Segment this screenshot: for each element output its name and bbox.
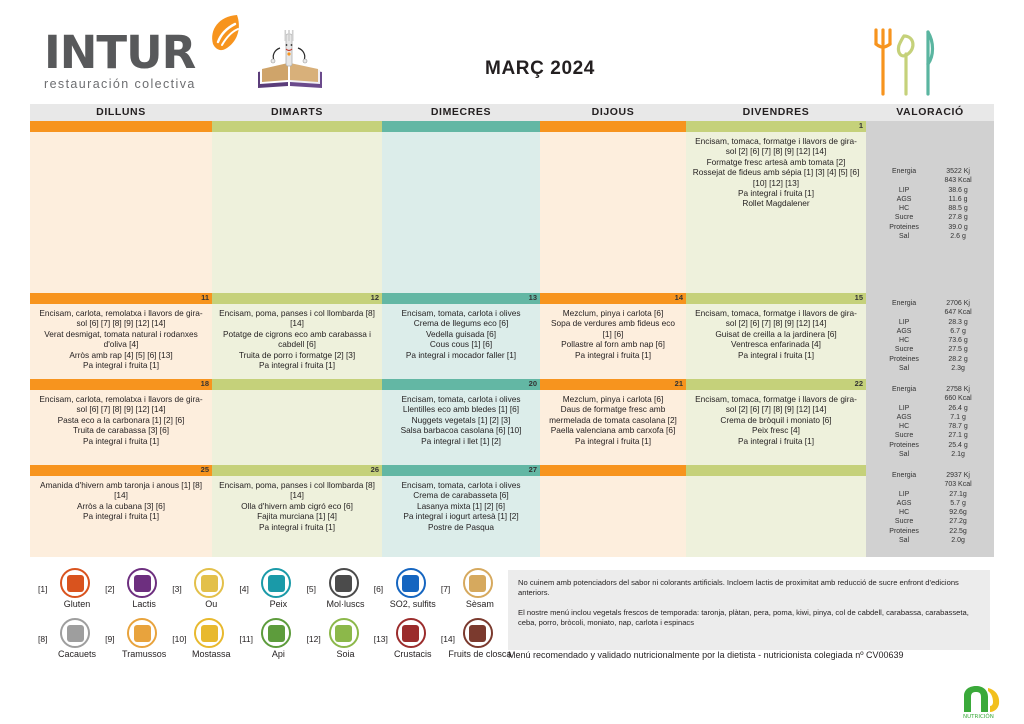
menu-item: Pa integral i fruita [1]	[546, 436, 680, 446]
menu-item: Encisam, tomata, carlota i olives	[388, 308, 534, 318]
nutrition-row: Proteines22.5g	[876, 527, 984, 536]
nutrition-row: Sucre27.2g	[876, 517, 984, 526]
day-number: 26	[371, 464, 379, 475]
menu-item: Paella valenciana amb carxofa [6]	[546, 425, 680, 435]
nutrition-label: Proteines	[876, 527, 932, 536]
menu-item: Truita de carabassa [3] [6]	[36, 425, 206, 435]
nutrition-value: 660 Kcal	[932, 394, 984, 403]
celery-icon	[261, 618, 291, 648]
allergen-glyph	[268, 575, 285, 592]
nutrition-value: 27.8 g	[932, 213, 984, 222]
nutrition-value: 2937 Kj	[932, 471, 984, 480]
nutrition-row: Energia703 Kcal	[876, 480, 984, 489]
nutrition-row: LIP28.3 g	[876, 318, 984, 327]
menu-day-cell[interactable]: 11Encisam, carlota, remolatxa i llavors …	[30, 293, 212, 379]
nutrition-label: HC	[876, 422, 932, 431]
day-menu-items: Encisam, carlota, remolatxa i llavors de…	[30, 390, 212, 465]
menu-item: Formatge fresc artesà amb tomata [2]	[692, 157, 860, 167]
nutrition-row: Energia647 Kcal	[876, 308, 984, 317]
nutrition-label: Proteines	[876, 355, 932, 364]
menu-item: Cous cous [1] [6]	[388, 339, 534, 349]
allergen-glyph	[201, 575, 218, 592]
nutrition-label: Proteines	[876, 223, 932, 232]
nutrition-label: Sal	[876, 536, 932, 545]
nutrition-valuation-cell: Energia2937 KjEnergia703 KcalLIP27.1gAGS…	[866, 465, 994, 557]
nut-icon	[463, 618, 493, 648]
menu-item: Amanida d'hivern amb taronja i anous [1]…	[36, 480, 206, 501]
nutrition-row: AGS6.7 g	[876, 327, 984, 336]
mollusc-icon	[329, 568, 359, 598]
column-header-dilluns: DILLUNS	[30, 104, 212, 121]
nutrition-row: LIP26.4 g	[876, 404, 984, 413]
menu-day-cell[interactable]: 20Encisam, tomata, carlota i olivesLlent…	[382, 379, 540, 465]
allergen-glyph	[469, 625, 486, 642]
nutrition-value: 27.1 g	[932, 431, 984, 440]
menu-day-cell[interactable]	[382, 121, 540, 293]
nutrition-value: 28.2 g	[932, 355, 984, 364]
nutrition-row: AGS11.6 g	[876, 195, 984, 204]
nutrition-row: AGS7.1 g	[876, 413, 984, 422]
nutrition-label: Energia	[876, 471, 932, 480]
nutrition-value: 6.7 g	[932, 327, 984, 336]
column-header-dimecres: DIMECRES	[382, 104, 540, 121]
allergen-number: [13]	[374, 634, 388, 644]
page-footer: [1]Gluten[2]Lactis[3]Ou[4]Peix[5]Mol·lus…	[0, 560, 1024, 724]
nutrition-valuation-cell: Energia2706 KjEnergia647 KcalLIP28.3 gAG…	[866, 293, 994, 379]
nutrition-row: HC73.6 g	[876, 336, 984, 345]
day-number-bar: 18	[30, 379, 212, 390]
menu-item: Potatge de cigrons eco amb carabassa i c…	[218, 329, 376, 350]
nutrition-row: Sal2.1g	[876, 450, 984, 459]
day-number-bar: 13	[382, 293, 540, 304]
day-menu-items	[382, 132, 540, 293]
nutrition-label: Energia	[876, 385, 932, 394]
day-number-bar	[30, 121, 212, 132]
nutrition-value: 92.6g	[932, 508, 984, 517]
menu-item: Encisam, tomaca, formatge i llavors de g…	[692, 308, 860, 329]
day-number-bar	[540, 121, 686, 132]
fish-icon	[261, 568, 291, 598]
nutrition-label: LIP	[876, 186, 932, 195]
allergen-item: [10]Mostassa	[172, 618, 239, 668]
nutrition-valuation-cell: Energia2758 KjEnergia660 KcalLIP26.4 gAG…	[866, 379, 994, 465]
column-header-dimarts: DIMARTS	[212, 104, 382, 121]
menu-item: Verat desmigat, tomata natural i rodanxe…	[36, 329, 206, 350]
nutrition-row: Sucre27.8 g	[876, 213, 984, 222]
nutrition-row: Energia2758 Kj	[876, 385, 984, 394]
day-menu-items: Encisam, tomaca, formatge i llavors de g…	[686, 132, 866, 293]
menu-day-cell[interactable]: 26Encisam, poma, panses i col llombarda …	[212, 465, 382, 557]
calendar-week-row: 11Encisam, carlota, remolatxa i llavors …	[30, 293, 994, 379]
menu-item: Crema de bròquil i moniato [6]	[692, 415, 860, 425]
menu-item: Pa integral i fruita [1]	[692, 350, 860, 360]
day-menu-items	[540, 132, 686, 293]
nutrition-value: 2.6 g	[932, 232, 984, 241]
menu-day-cell[interactable]	[212, 379, 382, 465]
column-header-dijous: DIJOUS	[540, 104, 686, 121]
nutrition-row: Energia660 Kcal	[876, 394, 984, 403]
nutrition-label: Sal	[876, 364, 932, 373]
allergen-number: [3]	[172, 584, 181, 594]
nutrition-valuation-cell: Energia3522 KjEnergia843 KcalLIP38.6 gAG…	[866, 121, 994, 293]
allergen-item: [4]Peix	[239, 568, 306, 618]
day-menu-items: Encisam, tomaca, formatge i llavors de g…	[686, 304, 866, 379]
menu-item: Pa integral i fruita [1]	[218, 522, 376, 532]
day-number-bar: 15	[686, 293, 866, 304]
nutrition-label: LIP	[876, 318, 932, 327]
menu-item: Encisam, carlota, remolatxa i llavors de…	[36, 394, 206, 415]
nutrition-row: Sal2.3g	[876, 364, 984, 373]
nutrition-label: AGS	[876, 327, 932, 336]
day-number-bar: 25	[30, 465, 212, 476]
allergen-item: [2]Lactis	[105, 568, 172, 618]
nutrition-value: 3522 Kj	[932, 167, 984, 176]
menu-item: Mezclum, pinya i carlota [6]	[546, 394, 680, 404]
day-menu-items	[686, 476, 866, 557]
nutrition-label: Sucre	[876, 517, 932, 526]
allergen-number: [1]	[38, 584, 47, 594]
nutrition-row: AGS5.7 g	[876, 499, 984, 508]
nutrition-value: 7.1 g	[932, 413, 984, 422]
nutrition-value: 22.5g	[932, 527, 984, 536]
day-number-bar: 21	[540, 379, 686, 390]
allergen-item: [8]Cacauets	[38, 618, 105, 668]
day-menu-items: Amanida d'hivern amb taronja i anous [1]…	[30, 476, 212, 557]
peanut-icon	[60, 618, 90, 648]
note-seasonal-veg: El nostre menú inclou vegetals frescos d…	[518, 608, 980, 629]
nutrition-value: 88.5 g	[932, 204, 984, 213]
menu-day-cell[interactable]: 15Encisam, tomaca, formatge i llavors de…	[686, 293, 866, 379]
menu-item: Truita de porro i formatge [2] [3]	[218, 350, 376, 360]
menu-item: Salsa barbacoa casolana [6] [10]	[388, 425, 534, 435]
allergen-glyph	[134, 575, 151, 592]
validation-note: Menú recomendado y validado nutricionalm…	[508, 650, 1008, 660]
calendar-week-row: 1Encisam, tomaca, formatge i llavors de …	[30, 121, 994, 293]
menu-day-cell[interactable]: 18Encisam, carlota, remolatxa i llavors …	[30, 379, 212, 465]
menu-day-cell[interactable]: 1Encisam, tomaca, formatge i llavors de …	[686, 121, 866, 293]
menu-day-cell[interactable]	[686, 465, 866, 557]
day-menu-items	[540, 476, 686, 557]
nutrition-label: AGS	[876, 195, 932, 204]
lactis-icon	[127, 568, 157, 598]
nutrition-label: Sal	[876, 450, 932, 459]
nutrition-label: HC	[876, 336, 932, 345]
open-book-with-fork-icon	[252, 26, 328, 94]
day-number: 15	[855, 292, 863, 303]
menu-day-cell[interactable]	[212, 121, 382, 293]
nutrition-row: HC92.6g	[876, 508, 984, 517]
calendar-body: 1Encisam, tomaca, formatge i llavors de …	[30, 121, 994, 557]
allergen-item: [9]Tramussos	[105, 618, 172, 668]
day-number: 11	[201, 292, 209, 303]
allergen-item: [6]SO2, sulfits	[374, 568, 441, 618]
day-number: 12	[371, 292, 379, 303]
column-header-divendres: DIVENDRES	[686, 104, 866, 121]
nutrition-value: 2.0g	[932, 536, 984, 545]
day-number-bar: 20	[382, 379, 540, 390]
menu-day-cell[interactable]	[30, 121, 212, 293]
allergen-glyph	[335, 575, 352, 592]
nutrition-label: LIP	[876, 404, 932, 413]
nutrition-value: 27.2g	[932, 517, 984, 526]
svg-text:NUTRICIÓN: NUTRICIÓN	[963, 713, 994, 720]
nutrition-value: 39.0 g	[932, 223, 984, 232]
sulfite-icon	[396, 568, 426, 598]
nutrition-value: 27.5 g	[932, 345, 984, 354]
menu-item: Rollet Magdalener	[692, 198, 860, 208]
nutrition-label: Proteines	[876, 441, 932, 450]
menu-day-cell[interactable]	[540, 465, 686, 557]
calendar-week-row: 18Encisam, carlota, remolatxa i llavors …	[30, 379, 994, 465]
day-number: 22	[855, 378, 863, 389]
allergen-number: [2]	[105, 584, 114, 594]
day-number-bar: 27	[382, 465, 540, 476]
menu-item: Pa integral i fruita [1]	[546, 350, 680, 360]
day-menu-items: Encisam, tomata, carlota i olivesCrema d…	[382, 304, 540, 379]
allergen-number: [9]	[105, 634, 114, 644]
menu-item: Arròs a la cubana [3] [6]	[36, 501, 206, 511]
gluten-icon	[60, 568, 90, 598]
menu-item: Vedella guisada [6]	[388, 329, 534, 339]
menu-day-cell[interactable]: 12Encisam, poma, panses i col llombarda …	[212, 293, 382, 379]
nutrition-value: 2706 Kj	[932, 299, 984, 308]
menu-day-cell[interactable]	[540, 121, 686, 293]
day-number: 18	[201, 378, 209, 389]
nutrition-row: Sucre27.1 g	[876, 431, 984, 440]
page-header: INTUR restauración colectiva	[0, 0, 1024, 104]
nutrition-value: 27.1g	[932, 490, 984, 499]
menu-item: Pa integral i iogurt artesà [1] [2]	[388, 511, 534, 521]
day-menu-items: Encisam, carlota, remolatxa i llavors de…	[30, 304, 212, 379]
sesame-icon	[463, 568, 493, 598]
menu-item: Nuggets vegetals [1] [2] [3]	[388, 415, 534, 425]
allergen-glyph	[335, 625, 352, 642]
allergen-legend-row-2: [8]Cacauets[9]Tramussos[10]Mostassa[11]A…	[38, 618, 508, 668]
anecoop-icon: NUTRICIÓN	[952, 682, 1010, 720]
allergen-item: [7]Sèsam	[441, 568, 508, 618]
menu-item: Postre de Pasqua	[388, 522, 534, 532]
day-number: 14	[675, 292, 683, 303]
nutrition-row: Energia3522 Kj	[876, 167, 984, 176]
menu-day-cell[interactable]: 21Mezclum, pinya i carlota [6]Daus de fo…	[540, 379, 686, 465]
nutrition-value: 73.6 g	[932, 336, 984, 345]
nutrition-row: HC78.7 g	[876, 422, 984, 431]
fork-leaf-knife-icon	[866, 26, 942, 98]
allergen-glyph	[268, 625, 285, 642]
menu-day-cell[interactable]: 27Encisam, tomata, carlota i olivesCrema…	[382, 465, 540, 557]
allergen-glyph	[402, 575, 419, 592]
allergen-glyph	[402, 625, 419, 642]
nutrition-row: HC88.5 g	[876, 204, 984, 213]
page-title: MARÇ 2024	[360, 58, 720, 80]
day-menu-items: Mezclum, pinya i carlota [6]Sopa de verd…	[540, 304, 686, 379]
allergen-glyph	[201, 625, 218, 642]
day-menu-items: Mezclum, pinya i carlota [6]Daus de form…	[540, 390, 686, 465]
menu-day-cell[interactable]: 25Amanida d'hivern amb taronja i anous […	[30, 465, 212, 557]
nutrition-row: Proteines25.4 g	[876, 441, 984, 450]
day-number-bar	[212, 379, 382, 390]
menu-item: Peix fresc [4]	[692, 425, 860, 435]
nutrition-value: 78.7 g	[932, 422, 984, 431]
nutrition-value: 25.4 g	[932, 441, 984, 450]
menu-item: Encisam, carlota, remolatxa i llavors de…	[36, 308, 206, 329]
allergen-glyph	[67, 575, 84, 592]
day-menu-items	[212, 390, 382, 465]
nutrition-label: Sal	[876, 232, 932, 241]
day-menu-items	[30, 132, 212, 293]
nutrition-row: LIP27.1g	[876, 490, 984, 499]
menu-item: Encisam, tomaca, formatge i llavors de g…	[692, 136, 860, 157]
nutrition-row: Sal2.0g	[876, 536, 984, 545]
menu-item: Llentilles eco amb bledes [1] [6]	[388, 404, 534, 414]
day-menu-items	[212, 132, 382, 293]
allergen-item: [1]Gluten	[38, 568, 105, 618]
day-number-bar: 26	[212, 465, 382, 476]
menu-item: Pa integral i fruita [1]	[692, 436, 860, 446]
menu-item: Guisat de creilla a la jardinera [6]	[692, 329, 860, 339]
menu-item: Encisam, poma, panses i col llombarda [8…	[218, 308, 376, 329]
crustacean-icon	[396, 618, 426, 648]
column-header-valoracio: VALORACIÓ	[866, 104, 994, 121]
note-no-additives: No cuinem amb potenciadors del sabor ni …	[518, 578, 980, 599]
day-menu-items: Encisam, tomaca, formatge i llavors de g…	[686, 390, 866, 465]
menu-item: Rossejat de fideus amb sépia [1] [3] [4]…	[692, 167, 860, 188]
day-number-bar: 1	[686, 121, 866, 132]
menu-item: Pollastre al forn amb nap [6]	[546, 339, 680, 349]
day-number-bar	[686, 465, 866, 476]
day-menu-items: Encisam, poma, panses i col llombarda [8…	[212, 304, 382, 379]
calendar-header-row: DILLUNS DIMARTS DIMECRES DIJOUS DIVENDRE…	[30, 104, 994, 121]
menu-item: Pa integral i llet [1] [2]	[388, 436, 534, 446]
menu-item: Fajita murciana [1] [4]	[218, 511, 376, 521]
allergen-number: [14]	[441, 634, 455, 644]
menu-item: Pa integral i fruita [1]	[36, 436, 206, 446]
day-number: 20	[529, 378, 537, 389]
menu-item: Encisam, tomata, carlota i olives	[388, 480, 534, 490]
menu-day-cell[interactable]: 13Encisam, tomata, carlota i olivesCrema…	[382, 293, 540, 379]
nutrition-label: Energia	[876, 299, 932, 308]
menu-item: Pa integral i fruita [1]	[692, 188, 860, 198]
nutrition-row: Sucre27.5 g	[876, 345, 984, 354]
allergen-number: [4]	[239, 584, 248, 594]
egg-icon	[194, 568, 224, 598]
nutrition-value: 843 Kcal	[932, 176, 984, 185]
nutrition-value: 28.3 g	[932, 318, 984, 327]
menu-item: Pa integral i mocador faller [1]	[388, 350, 534, 360]
mustard-icon	[194, 618, 224, 648]
nutrition-value: 26.4 g	[932, 404, 984, 413]
menu-item: Encisam, poma, panses i col llombarda [8…	[218, 480, 376, 501]
allergen-glyph	[67, 625, 84, 642]
menu-item: Lasanya mixta [1] [2] [6]	[388, 501, 534, 511]
day-number-bar: 14	[540, 293, 686, 304]
nutrition-row: Energia2937 Kj	[876, 471, 984, 480]
nutrition-row: LIP38.6 g	[876, 186, 984, 195]
nutrition-value: 647 Kcal	[932, 308, 984, 317]
allergen-number: [6]	[374, 584, 383, 594]
day-number-bar	[540, 465, 686, 476]
day-number: 21	[675, 378, 683, 389]
kitchen-notes: No cuinem amb potenciadors del sabor ni …	[508, 570, 990, 650]
allergen-item: [5]Mol·luscs	[307, 568, 374, 618]
nutrition-value: 2.3g	[932, 364, 984, 373]
allergen-glyph	[469, 575, 486, 592]
nutrition-value: 38.6 g	[932, 186, 984, 195]
nutrition-value: 2758 Kj	[932, 385, 984, 394]
nutrition-value: 703 Kcal	[932, 480, 984, 489]
allergen-number: [12]	[307, 634, 321, 644]
day-number: 25	[201, 464, 209, 475]
menu-item: Olla d'hivern amb cigró eco [6]	[218, 501, 376, 511]
day-menu-items: Encisam, tomata, carlota i olivesCrema d…	[382, 476, 540, 557]
allergen-item: [13]Crustacis	[374, 618, 441, 668]
menu-item: Daus de formatge fresc amb mermelada de …	[546, 404, 680, 425]
allergen-number: [5]	[307, 584, 316, 594]
menu-item: Pasta eco a la carbonara [1] [2] [6]	[36, 415, 206, 425]
menu-day-cell[interactable]: 22Encisam, tomaca, formatge i llavors de…	[686, 379, 866, 465]
menu-item: Pa integral i fruita [1]	[36, 360, 206, 370]
allergen-number: [8]	[38, 634, 47, 644]
menu-item: Crema de carabasseta [6]	[388, 490, 534, 500]
day-number: 1	[859, 120, 863, 131]
menu-item: Encisam, tomata, carlota i olives	[388, 394, 534, 404]
allergen-number: [11]	[239, 634, 253, 644]
menu-item: Crema de llegums eco [6]	[388, 318, 534, 328]
nutrition-label: AGS	[876, 413, 932, 422]
menu-item: Mezclum, pinya i carlota [6]	[546, 308, 680, 318]
menu-day-cell[interactable]: 14Mezclum, pinya i carlota [6]Sopa de ve…	[540, 293, 686, 379]
menu-item: Sopa de verdures amb fideus eco [1] [6]	[546, 318, 680, 339]
nutrition-label: AGS	[876, 499, 932, 508]
lupin-icon	[127, 618, 157, 648]
soy-icon	[329, 618, 359, 648]
day-number-bar: 12	[212, 293, 382, 304]
nutrition-label: Sucre	[876, 345, 932, 354]
menu-item: Encisam, tomaca, formatge i llavors de g…	[692, 394, 860, 415]
nutrition-value: 5.7 g	[932, 499, 984, 508]
day-number-bar	[212, 121, 382, 132]
nutrition-row: Energia843 Kcal	[876, 176, 984, 185]
day-number: 27	[529, 464, 537, 475]
nutrition-value: 2.1g	[932, 450, 984, 459]
nutrition-value: 11.6 g	[932, 195, 984, 204]
menu-item: Pa integral i fruita [1]	[36, 511, 206, 521]
allergen-legend: [1]Gluten[2]Lactis[3]Ou[4]Peix[5]Mol·lus…	[38, 568, 508, 668]
calendar-week-row: 25Amanida d'hivern amb taronja i anous […	[30, 465, 994, 557]
day-number-bar: 22	[686, 379, 866, 390]
allergen-item: [14]Fruits de closca	[441, 618, 508, 668]
day-number: 13	[529, 292, 537, 303]
day-menu-items: Encisam, tomata, carlota i olivesLlentil…	[382, 390, 540, 465]
allergen-number: [10]	[172, 634, 186, 644]
menu-item: Pa integral i fruita [1]	[218, 360, 376, 370]
orange-leaf-icon	[207, 14, 245, 56]
nutrition-label: HC	[876, 508, 932, 517]
allergen-glyph	[134, 625, 151, 642]
allergen-item: [11]Api	[239, 618, 306, 668]
allergen-legend-row-1: [1]Gluten[2]Lactis[3]Ou[4]Peix[5]Mol·lus…	[38, 568, 508, 618]
allergen-item: [12]Soia	[307, 618, 374, 668]
day-number-bar	[382, 121, 540, 132]
nutrition-label: LIP	[876, 490, 932, 499]
day-menu-items: Encisam, poma, panses i col llombarda [8…	[212, 476, 382, 557]
nutrition-label: Energia	[876, 167, 932, 176]
allergen-item: [3]Ou	[172, 568, 239, 618]
menu-item: Arròs amb rap [4] [5] [6] [13]	[36, 350, 206, 360]
menu-calendar: DILLUNS DIMARTS DIMECRES DIJOUS DIVENDRE…	[30, 104, 994, 557]
nutrition-label: HC	[876, 204, 932, 213]
nutrition-label: Sucre	[876, 213, 932, 222]
